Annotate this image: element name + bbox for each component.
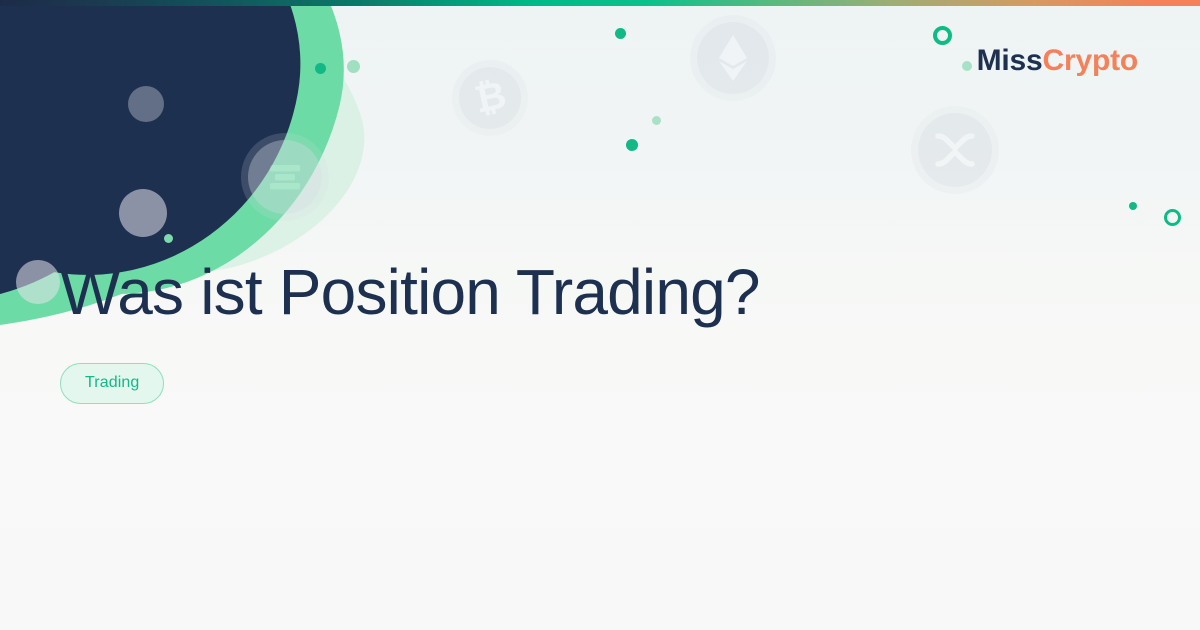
- lavender-orb-2: [16, 260, 60, 304]
- accent-dot-7: [962, 61, 972, 71]
- accent-ring-1: [933, 26, 952, 45]
- page-title: Was ist Position Trading?: [60, 258, 1100, 327]
- accent-dot-4: [652, 116, 661, 125]
- accent-dot-1: [315, 63, 326, 74]
- ethereum-coin-icon: [697, 22, 769, 94]
- accent-dot-5: [626, 139, 638, 151]
- top-gradient-bar: [0, 0, 1200, 6]
- lavender-orb-3: [128, 86, 164, 122]
- accent-dot-3: [615, 28, 626, 39]
- logo-text-crypto: Crypto: [1043, 44, 1138, 77]
- category-badge[interactable]: Trading: [60, 363, 164, 404]
- card-content: Was ist Position Trading? Trading: [60, 258, 1100, 404]
- stellar-coin-icon: [248, 140, 322, 214]
- brand-logo[interactable]: MissCrypto: [977, 46, 1138, 76]
- og-share-card: ₿ MissCrypto Was ist Position Trading? T…: [0, 0, 1200, 630]
- accent-dot-6: [164, 234, 173, 243]
- lavender-orb-1: [119, 189, 167, 237]
- bitcoin-coin-icon: ₿: [459, 67, 521, 129]
- accent-dot-2: [347, 60, 360, 73]
- bitcoin-glyph: ₿: [471, 76, 509, 120]
- accent-dot-8: [1129, 202, 1137, 210]
- xrp-coin-icon: [918, 113, 992, 187]
- accent-ring-2: [1164, 209, 1181, 226]
- logo-text-miss: Miss: [977, 44, 1043, 77]
